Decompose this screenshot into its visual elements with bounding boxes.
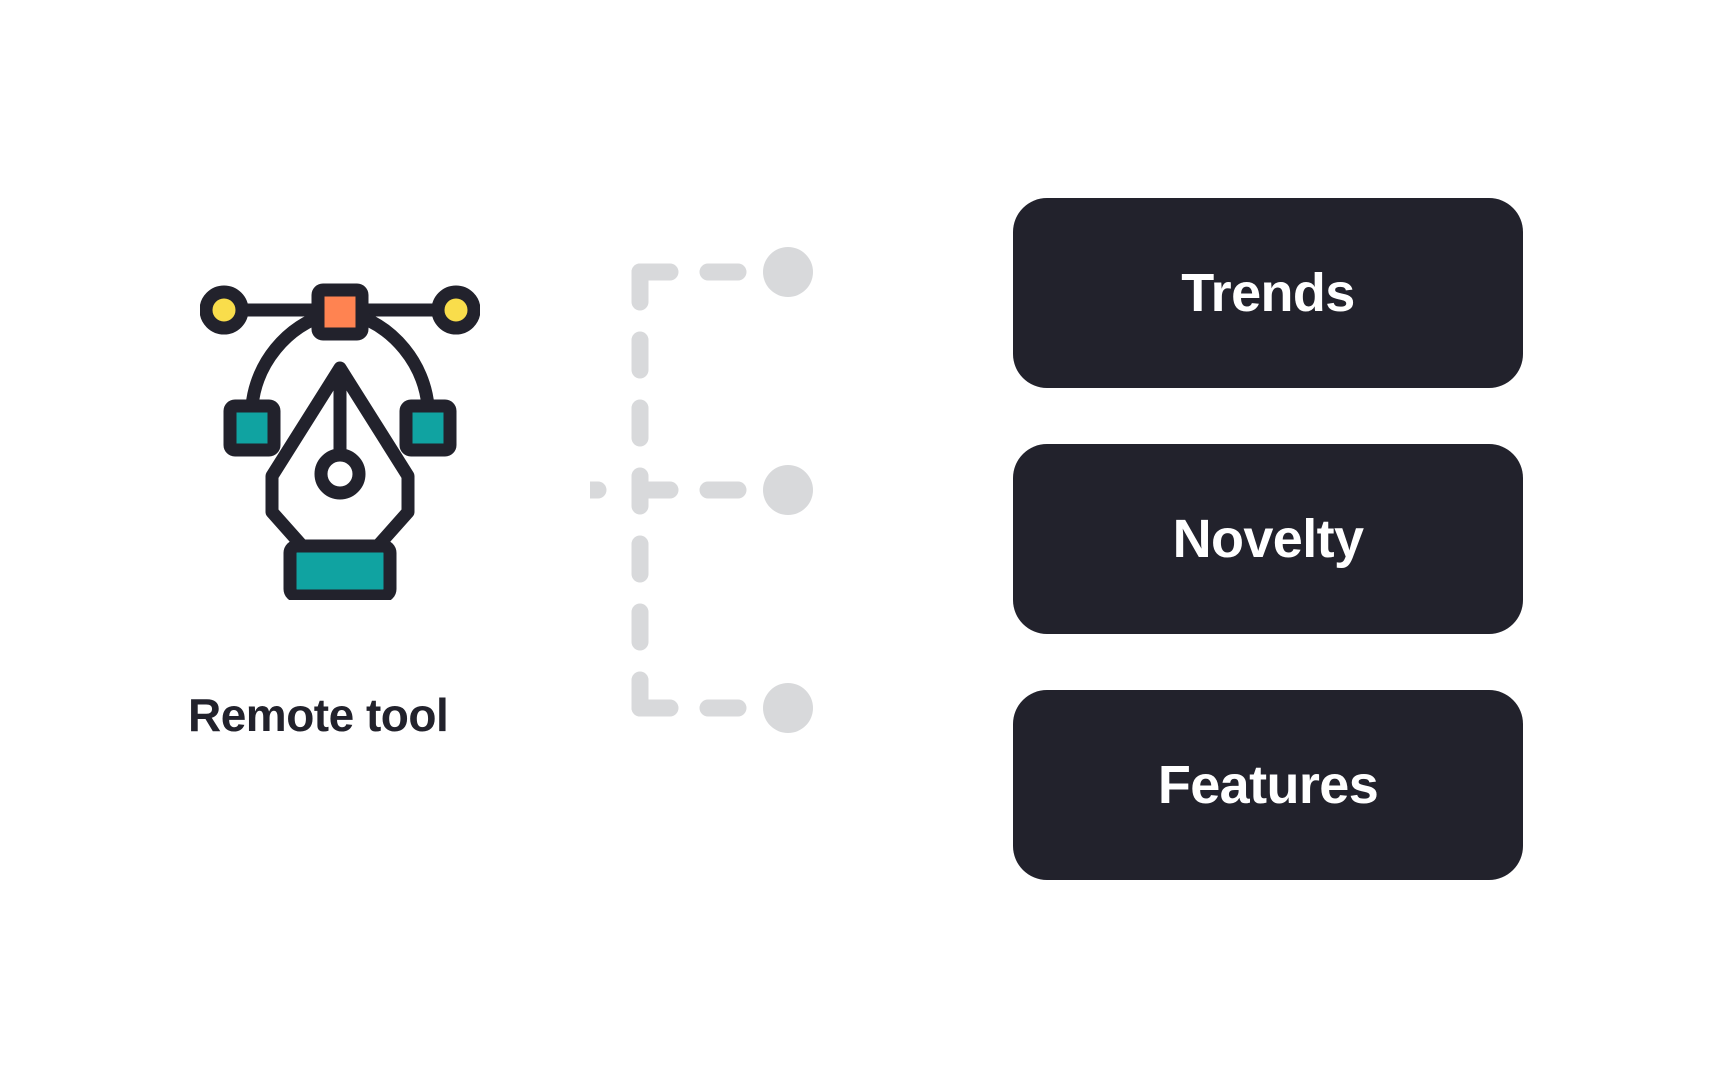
pen-tool-icon [200,280,480,600]
remote-tool-label: Remote tool [188,688,448,742]
remote-tool-node[interactable]: Remote tool [150,280,570,780]
diagram-canvas: Remote tool Trends [0,0,1728,1080]
target-button-features-label: Features [1158,758,1378,812]
connector-endpoint-features-icon [763,683,813,733]
control-handle-left-icon [230,406,274,450]
target-button-trends[interactable]: Trends [1013,198,1523,388]
anchor-point-center-icon [318,290,362,334]
pen-nib-base [290,546,390,596]
pen-tool-svg [200,280,480,600]
target-button-novelty-label: Novelty [1173,512,1364,566]
target-button-features[interactable]: Features [1013,690,1523,880]
connector-svg [590,230,930,760]
dashed-branch-connector [590,230,930,760]
target-button-novelty[interactable]: Novelty [1013,444,1523,634]
anchor-point-right-icon [438,292,474,328]
control-handle-right-icon [406,406,450,450]
pen-nib-hole [321,455,359,493]
anchor-point-left-icon [206,292,242,328]
connector-endpoint-novelty-icon [763,465,813,515]
target-button-trends-label: Trends [1181,266,1354,320]
connector-endpoint-trends-icon [763,247,813,297]
target-list: Trends Novelty Features [1013,198,1523,880]
